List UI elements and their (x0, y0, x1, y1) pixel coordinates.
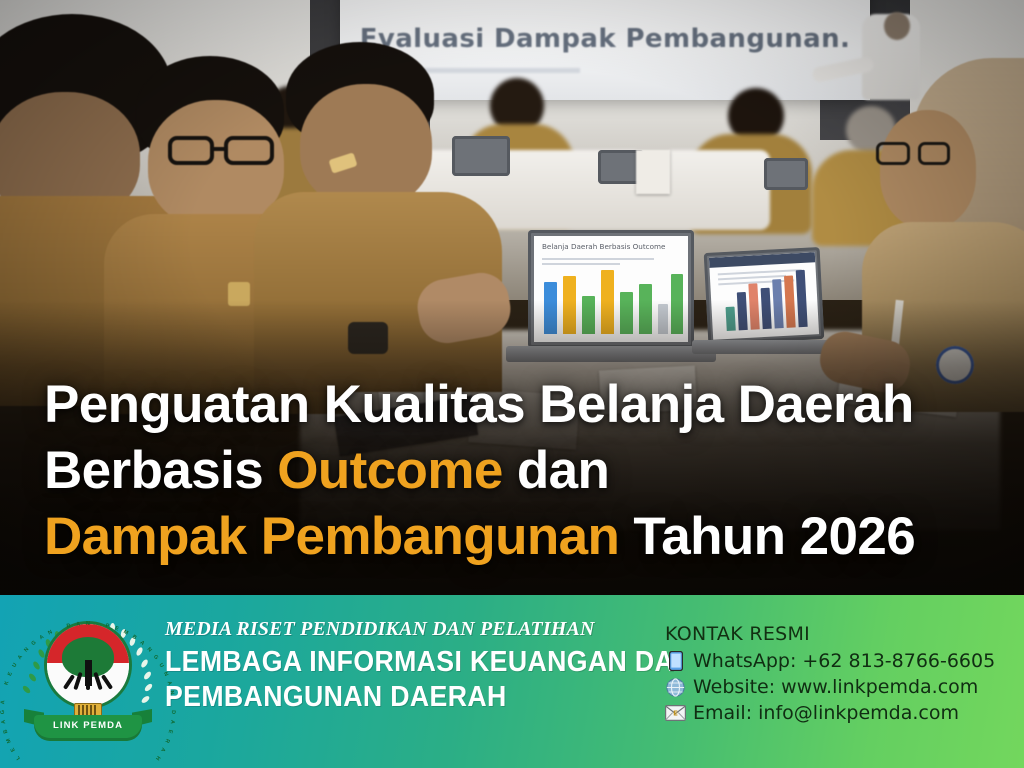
contact-row-email[interactable]: E Email: info@linkpemda.com (665, 702, 1015, 724)
logo-ring-text: LEMBAGA KEUANGAN DAN PEMBANGUNAN DAERAH (44, 621, 132, 709)
headline-line-2: Berbasis Outcome dan (44, 438, 1004, 504)
brand-name-line-2: PEMBANGUNAN DAERAH (165, 680, 643, 715)
contact-whatsapp-label: WhatsApp: +62 813-8766-6605 (693, 650, 995, 672)
contact-website-label: Website: www.linkpemda.com (693, 676, 978, 698)
globe-icon (665, 677, 686, 698)
brand-name-line-1: LEMBAGA INFORMASI KEUANGAN DA (165, 645, 643, 680)
phone-icon (665, 651, 686, 672)
headline-keyword-outcome: Outcome (277, 441, 503, 500)
headline-line-2-tail: dan (503, 441, 610, 500)
contact-email-label: Email: info@linkpemda.com (693, 702, 959, 724)
envelope-icon: E (665, 703, 686, 724)
headline-line-3-tail: Tahun 2026 (619, 507, 915, 566)
poster-headline: Penguatan Kualitas Belanja Daerah Berbas… (44, 372, 1004, 570)
link-pemda-logo: LEMBAGA KEUANGAN DAN PEMBANGUNAN DAERAH … (18, 611, 158, 751)
contact-row-website[interactable]: Website: www.linkpemda.com (665, 676, 1015, 698)
brand-tagline: MEDIA RISET PENDIDIKAN DAN PELATIHAN (165, 619, 695, 641)
brand-block: MEDIA RISET PENDIDIKAN DAN PELATIHAN LEM… (165, 619, 685, 715)
headline-line-1-text: Penguatan Kualitas Belanja Daerah (44, 375, 914, 434)
contact-row-whatsapp[interactable]: WhatsApp: +62 813-8766-6605 (665, 650, 1015, 672)
logo-ribbon: LINK PEMDA (24, 707, 152, 749)
headline-keyword-dampak: Dampak Pembangunan (44, 507, 619, 566)
headline-line-2-lead: Berbasis (44, 441, 277, 500)
headline-line-1: Penguatan Kualitas Belanja Daerah (44, 372, 1004, 438)
ribbon-text: LINK PEMDA (24, 720, 152, 731)
headline-line-3: Dampak Pembangunan Tahun 2026 (44, 504, 1004, 570)
contact-title: KONTAK RESMI (665, 623, 1015, 645)
poster-canvas: Evaluasi Dampak Pembangunan. Belanja Dae… (0, 0, 1024, 768)
contact-block: KONTAK RESMI WhatsApp: +62 813-8766-6605 (665, 623, 1015, 724)
footer-bar: LEMBAGA KEUANGAN DAN PEMBANGUNAN DAERAH … (0, 595, 1024, 768)
svg-text:E: E (673, 710, 678, 718)
